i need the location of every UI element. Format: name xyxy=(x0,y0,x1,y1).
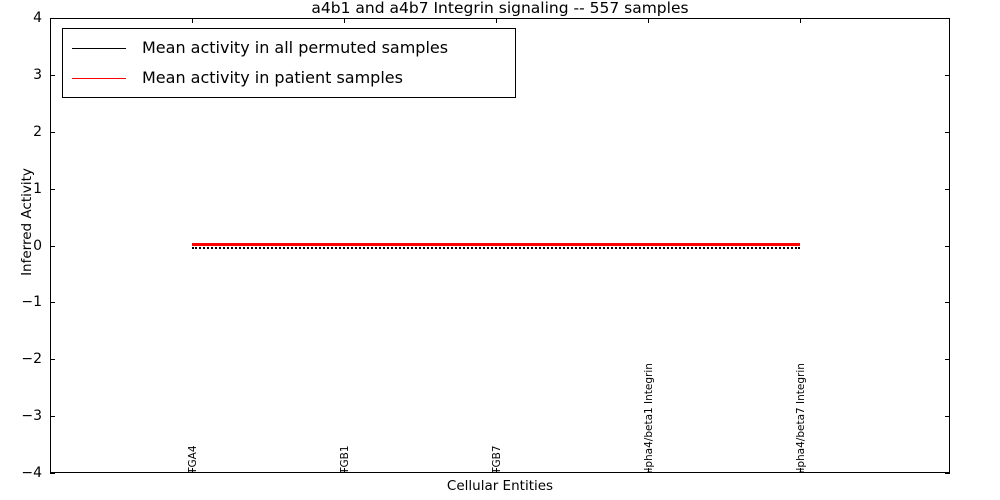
x-tick-mark-top xyxy=(496,18,497,23)
y-axis-label: Inferred Activity xyxy=(20,142,34,302)
x-tick-mark-top xyxy=(800,18,801,23)
y-tick-mark-right xyxy=(945,246,950,247)
x-tick-mark xyxy=(648,468,649,473)
y-tick-label: 1 xyxy=(0,182,42,196)
chart-figure: a4b1 and a4b7 Integrin signaling -- 557 … xyxy=(0,0,1000,500)
x-tick-mark-top xyxy=(648,18,649,23)
x-axis-label: Cellular Entities xyxy=(50,478,950,494)
chart-legend: Mean activity in all permuted samples Me… xyxy=(62,28,516,98)
y-tick-label: 3 xyxy=(0,68,42,82)
x-tick-mark xyxy=(496,468,497,473)
x-tick-mark xyxy=(192,468,193,473)
x-tick-mark-top xyxy=(192,18,193,23)
y-tick-label: −1 xyxy=(0,295,42,309)
y-tick-mark-right xyxy=(945,18,950,19)
x-tick-mark xyxy=(344,468,345,473)
legend-entry-permuted: Mean activity in all permuted samples xyxy=(63,33,515,63)
legend-swatch-icon-patient xyxy=(72,78,126,79)
y-tick-mark xyxy=(50,416,55,417)
y-tick-mark-right xyxy=(945,132,950,133)
y-tick-mark xyxy=(50,18,55,19)
y-tick-mark-right xyxy=(945,302,950,303)
x-tick-mark xyxy=(800,468,801,473)
y-tick-mark xyxy=(50,359,55,360)
y-tick-label: 4 xyxy=(0,11,42,25)
y-tick-mark-right xyxy=(945,189,950,190)
y-tick-mark-right xyxy=(945,473,950,474)
y-tick-mark-right xyxy=(945,416,950,417)
legend-label-patient: Mean activity in patient samples xyxy=(142,69,403,87)
legend-entry-patient: Mean activity in patient samples xyxy=(63,63,515,93)
y-tick-label: −3 xyxy=(0,409,42,423)
chart-title: a4b1 and a4b7 Integrin signaling -- 557 … xyxy=(0,0,1000,18)
y-tick-mark xyxy=(50,246,55,247)
y-tick-mark-right xyxy=(945,359,950,360)
y-tick-label: 0 xyxy=(0,239,42,253)
y-tick-mark-right xyxy=(945,75,950,76)
y-tick-mark xyxy=(50,473,55,474)
y-tick-mark xyxy=(50,132,55,133)
legend-swatch-icon-permuted xyxy=(72,48,126,49)
legend-label-permuted: Mean activity in all permuted samples xyxy=(142,39,448,57)
y-tick-mark xyxy=(50,302,55,303)
y-tick-label: 2 xyxy=(0,125,42,139)
y-tick-mark xyxy=(50,189,55,190)
y-tick-label: −2 xyxy=(0,352,42,366)
y-tick-mark xyxy=(50,75,55,76)
x-tick-mark-top xyxy=(344,18,345,23)
y-tick-label: −4 xyxy=(0,466,42,480)
